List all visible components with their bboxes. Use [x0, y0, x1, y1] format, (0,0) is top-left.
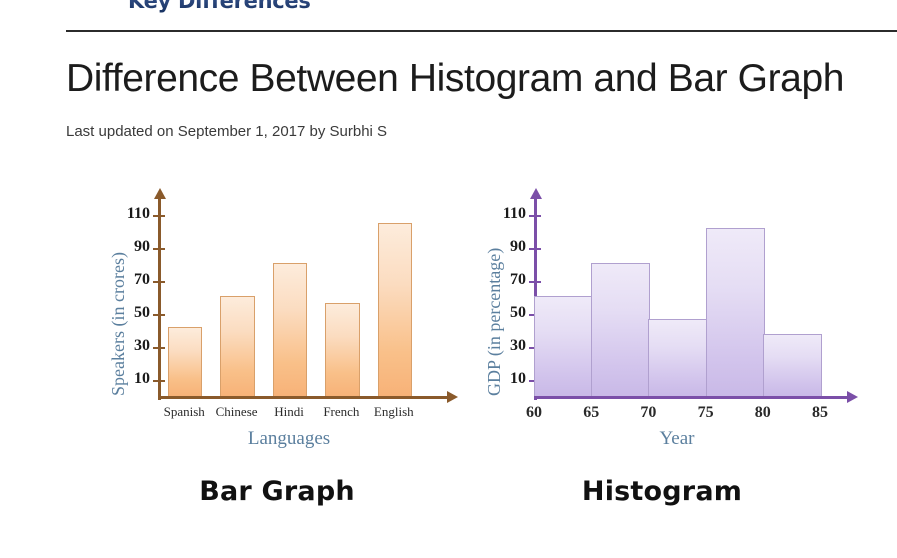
y-axis-tick	[153, 314, 165, 316]
histogram-plot: 1030507090110GDP (in percentage)60657075…	[462, 176, 862, 454]
y-axis-tick	[153, 248, 165, 250]
x-axis-tick-label: 70	[624, 404, 672, 422]
y-axis-tick-label: 110	[110, 205, 150, 223]
y-axis-tick	[153, 215, 165, 217]
y-axis-arrow-icon	[154, 188, 166, 199]
y-axis-tick	[153, 380, 165, 382]
chart-bar	[220, 296, 254, 396]
x-axis-tick-label: 65	[567, 404, 615, 422]
x-axis-tick-label: 60	[510, 404, 558, 422]
chart-bar	[168, 327, 202, 396]
chart-bar	[648, 319, 707, 396]
x-axis-line	[158, 396, 448, 399]
y-axis-tick-label: 110	[486, 205, 526, 223]
y-axis-tick	[529, 215, 541, 217]
site-header: Key Differences	[0, 0, 897, 32]
y-axis-tick	[529, 281, 541, 283]
y-axis-tick	[529, 248, 541, 250]
x-axis-tick-label: 85	[796, 404, 844, 422]
chart-bar	[273, 263, 307, 396]
chart-bar	[325, 303, 359, 396]
figure-area: 1030507090110Speakers (in crores)Spanish…	[0, 176, 897, 558]
histogram-caption: Histogram	[462, 476, 862, 507]
y-axis-tick	[153, 347, 165, 349]
bar-graph-figure: 1030507090110Speakers (in crores)Spanish…	[92, 176, 462, 516]
page-title: Difference Between Histogram and Bar Gra…	[66, 53, 844, 105]
y-axis-title: Speakers (in crores)	[108, 252, 129, 396]
x-axis-tick-label: English	[360, 404, 428, 420]
x-axis-arrow-icon	[447, 391, 458, 403]
x-axis-arrow-icon	[847, 391, 858, 403]
chart-bar	[706, 228, 765, 396]
y-axis-tick	[153, 281, 165, 283]
x-axis-line	[534, 396, 848, 399]
chart-bar	[534, 296, 593, 396]
y-axis-line	[158, 198, 161, 400]
y-axis-arrow-icon	[530, 188, 542, 199]
x-axis-tick-label: 75	[682, 404, 730, 422]
x-axis-tick-label: 80	[739, 404, 787, 422]
site-logo[interactable]: Key Differences	[128, 0, 311, 13]
chart-bar	[591, 263, 650, 396]
bar-graph-caption: Bar Graph	[92, 476, 462, 507]
x-axis-title: Year	[534, 428, 820, 450]
x-axis-title: Languages	[158, 428, 420, 450]
header-divider	[66, 30, 897, 32]
chart-bar	[763, 334, 822, 396]
article-meta: Last updated on September 1, 2017 by Sur…	[66, 123, 387, 140]
histogram-figure: 1030507090110GDP (in percentage)60657075…	[462, 176, 862, 516]
y-axis-title: GDP (in percentage)	[484, 248, 505, 396]
chart-bar	[378, 223, 412, 396]
bar-graph-plot: 1030507090110Speakers (in crores)Spanish…	[92, 176, 462, 454]
